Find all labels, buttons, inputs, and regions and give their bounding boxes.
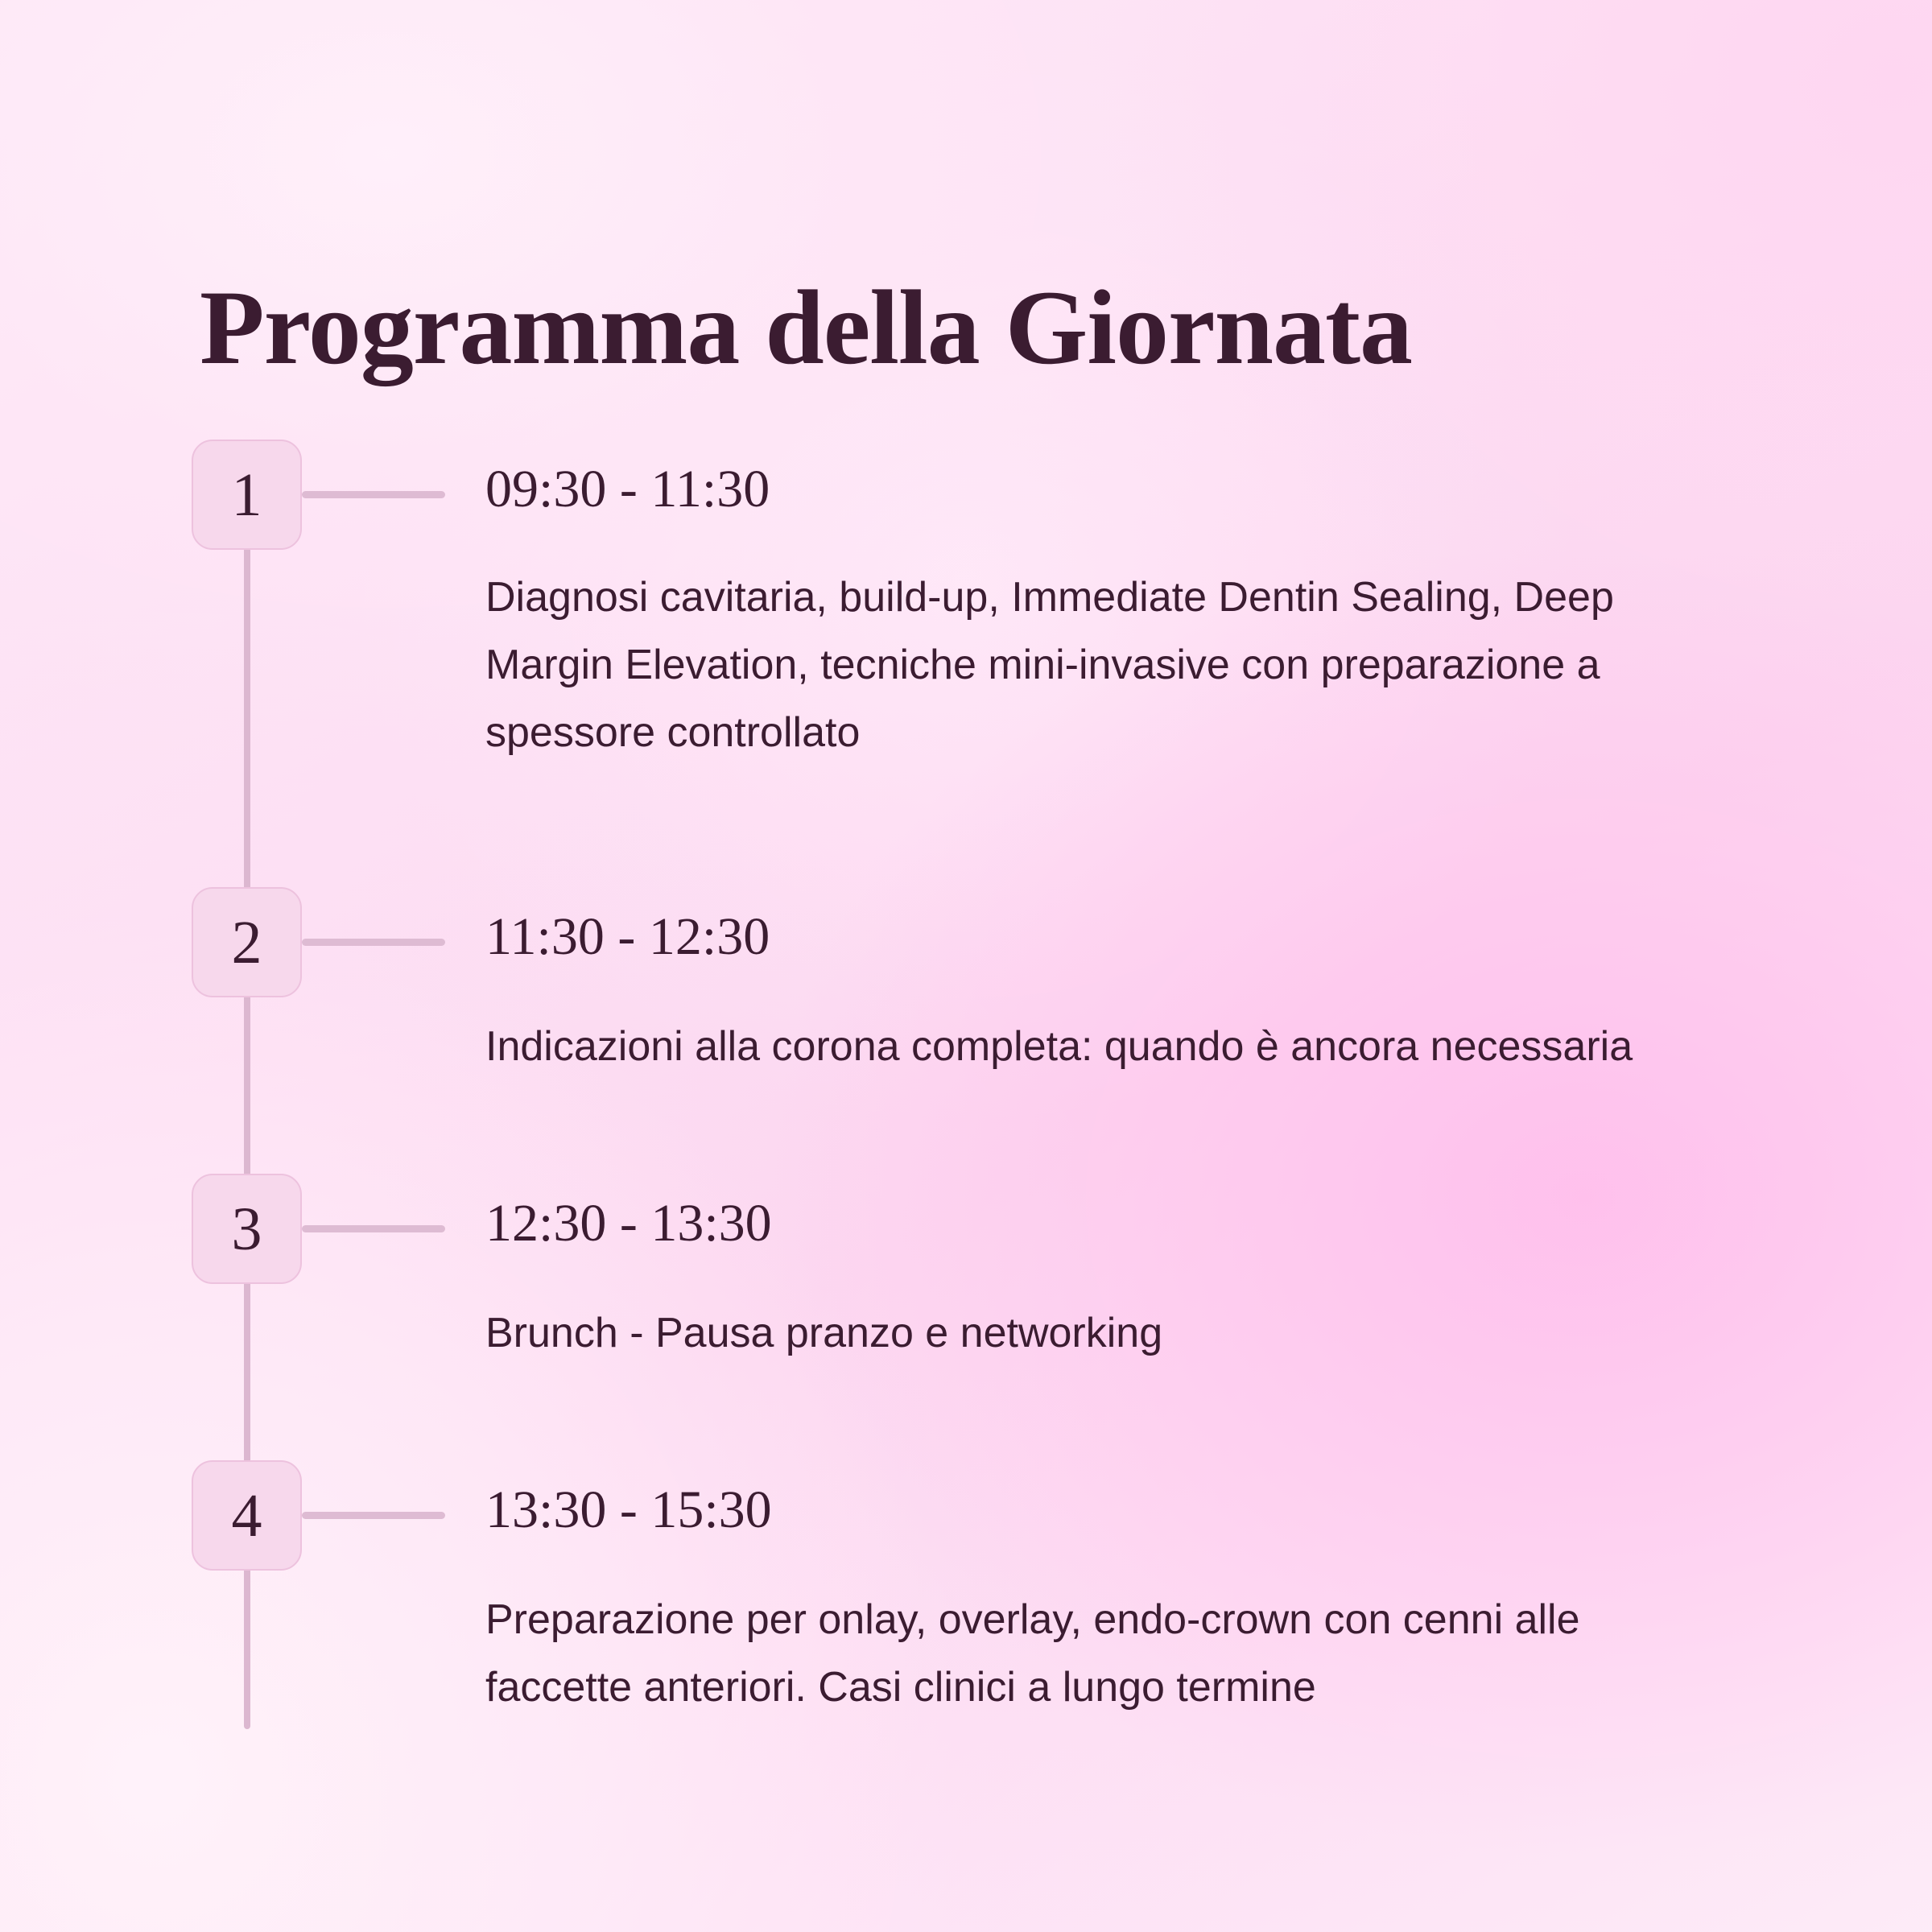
timeline-description-4: Preparazione per onlay, overlay, endo-cr… bbox=[485, 1586, 1677, 1721]
timeline-description-1: Diagnosi cavitaria, build-up, Immediate … bbox=[485, 563, 1741, 767]
timeline-time-1: 09:30 - 11:30 bbox=[485, 459, 770, 520]
timeline-step-number-4: 4 bbox=[192, 1460, 302, 1571]
timeline-connector-2 bbox=[302, 939, 445, 946]
timeline-time-4: 13:30 - 15:30 bbox=[485, 1480, 772, 1541]
timeline-step-number-1: 1 bbox=[192, 440, 302, 550]
timeline-description-2: Indicazioni alla corona completa: quando… bbox=[485, 1013, 1854, 1080]
timeline-connector-4 bbox=[302, 1512, 445, 1519]
timeline-step-number-3: 3 bbox=[192, 1174, 302, 1284]
timeline-time-2: 11:30 - 12:30 bbox=[485, 906, 770, 968]
timeline-description-3: Brunch - Pausa pranzo e networking bbox=[485, 1299, 1854, 1367]
programma-poster: Programma della Giornata 1 09:30 - 11:30… bbox=[0, 0, 1932, 1932]
timeline-time-3: 12:30 - 13:30 bbox=[485, 1193, 772, 1254]
timeline-connector-3 bbox=[302, 1225, 445, 1232]
timeline-connector-1 bbox=[302, 491, 445, 498]
timeline-step-number-2: 2 bbox=[192, 887, 302, 997]
timeline: 1 09:30 - 11:30 Diagnosi cavitaria, buil… bbox=[0, 0, 1932, 1932]
